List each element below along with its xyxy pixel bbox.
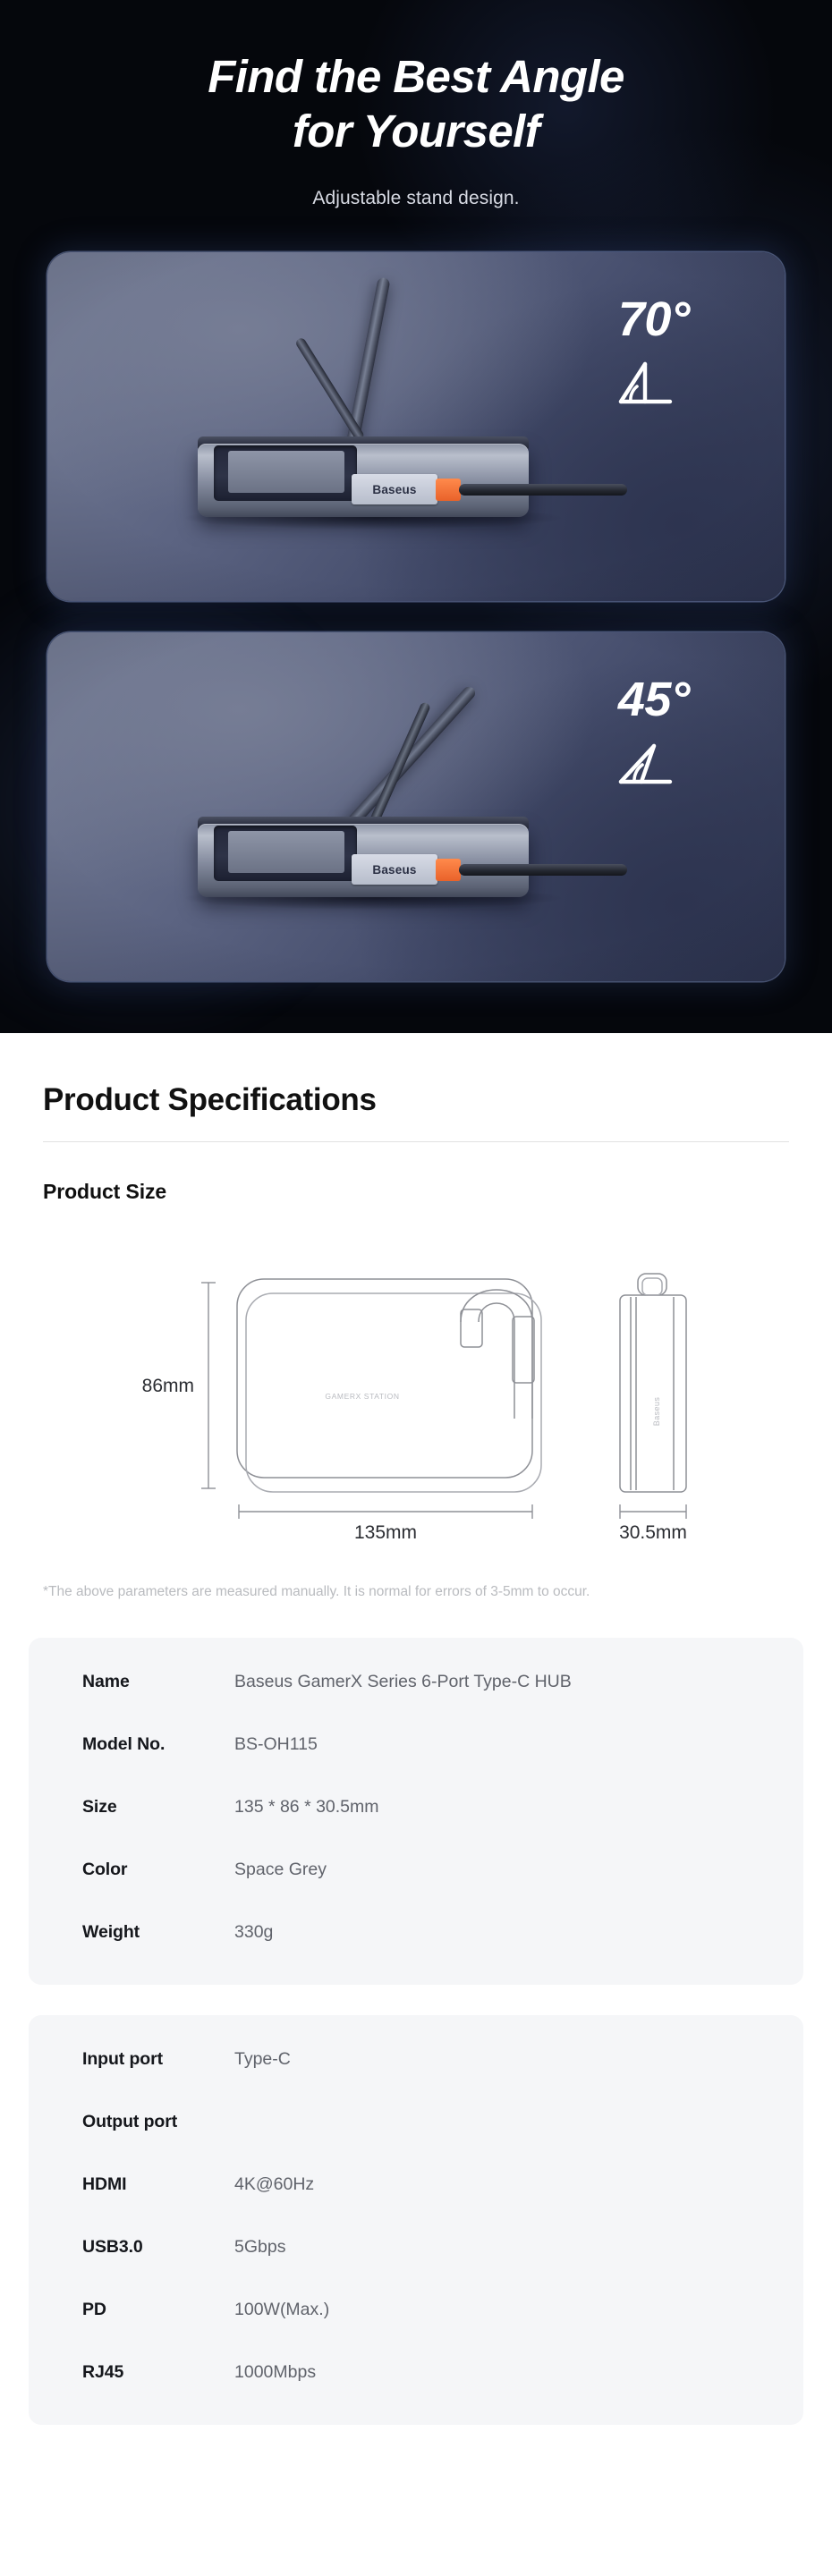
spec-value: 330g xyxy=(234,1919,619,1945)
angle-70-icon xyxy=(618,361,674,406)
spec-table-ports: Input port Type-C Output port HDMI 4K@60… xyxy=(29,2015,803,2425)
device-side-text: Baseus xyxy=(652,1397,661,1427)
table-row: Weight 330g xyxy=(29,1919,803,1954)
hub-cable xyxy=(459,484,627,496)
hub-brand-badge: Baseus xyxy=(352,854,437,885)
table-row: Model No. BS-OH115 xyxy=(29,1731,803,1767)
angle-label-70: 70° xyxy=(618,295,690,406)
spec-key: PD xyxy=(82,2296,234,2323)
hub-stand-kickstand xyxy=(368,701,431,828)
spec-value: BS-OH115 xyxy=(234,1731,619,1758)
spec-value: Space Grey xyxy=(234,1856,619,1883)
angle-showcase-card-45: Baseus 45° xyxy=(47,632,785,981)
specs-divider xyxy=(43,1141,789,1142)
spec-key: RJ45 xyxy=(82,2359,234,2385)
spec-value: 1000Mbps xyxy=(234,2359,619,2385)
angle-value-70: 70° xyxy=(618,295,690,343)
table-row: Name Baseus GamerX Series 6-Port Type-C … xyxy=(29,1668,803,1704)
spec-key: Name xyxy=(82,1668,234,1695)
spec-key: Color xyxy=(82,1856,234,1883)
hero-title-line-2: for Yourself xyxy=(76,104,756,158)
product-detail-page: Find the Best Angle for Yourself Adjusta… xyxy=(0,0,832,2479)
product-size-label: Product Size xyxy=(43,1180,789,1204)
angle-45-icon xyxy=(618,741,674,786)
product-size-diagram: 86mm 135mm 30.5mm GAMERX STATION Bas xyxy=(67,1224,765,1563)
hub-illustration-70: Baseus xyxy=(144,267,645,535)
hub-stand-panel xyxy=(343,684,478,832)
table-row: RJ45 1000Mbps xyxy=(29,2359,803,2394)
spec-value: 135 * 86 * 30.5mm xyxy=(234,1793,619,1820)
spec-value: Baseus GamerX Series 6-Port Type-C HUB xyxy=(234,1668,619,1695)
spec-value: Type-C xyxy=(234,2046,619,2072)
device-top-text: GAMERX STATION xyxy=(325,1392,399,1401)
table-row: PD 100W(Max.) xyxy=(29,2296,803,2332)
table-row: Input port Type-C xyxy=(29,2046,803,2081)
table-row: USB3.0 5Gbps xyxy=(29,2233,803,2269)
specs-heading: Product Specifications xyxy=(43,1082,832,1118)
hero-section: Find the Best Angle for Yourself Adjusta… xyxy=(0,0,832,1033)
spec-key: Size xyxy=(82,1793,234,1820)
hub-device-slot xyxy=(214,445,357,501)
spec-table-general: Name Baseus GamerX Series 6-Port Type-C … xyxy=(29,1638,803,1985)
hero-subtitle: Adjustable stand design. xyxy=(0,188,832,209)
dimension-height-label: 86mm xyxy=(142,1376,194,1396)
table-row: Color Space Grey xyxy=(29,1856,803,1892)
angle-label-45: 45° xyxy=(618,675,690,786)
hub-stand-kickstand xyxy=(294,337,365,443)
spec-key: Model No. xyxy=(82,1731,234,1758)
spec-key: USB3.0 xyxy=(82,2233,234,2260)
dimension-depth-label: 30.5mm xyxy=(619,1522,687,1543)
hero-title-line-1: Find the Best Angle xyxy=(208,51,624,102)
spec-key: Input port xyxy=(82,2046,234,2072)
table-row: HDMI 4K@60Hz xyxy=(29,2171,803,2207)
product-size-block: Product Size xyxy=(0,1180,832,1563)
angle-showcase-card-70: Baseus 70° xyxy=(47,252,785,601)
spec-value: 5Gbps xyxy=(234,2233,619,2260)
hub-device-slot xyxy=(214,826,357,881)
spec-value: 100W(Max.) xyxy=(234,2296,619,2323)
spec-key: Weight xyxy=(82,1919,234,1945)
measurement-note: *The above parameters are measured manua… xyxy=(43,1580,651,1606)
dimension-width-label: 135mm xyxy=(354,1522,417,1543)
specifications-section: Product Specifications Product Size xyxy=(0,1033,832,2479)
hero-title: Find the Best Angle for Yourself xyxy=(76,49,756,158)
usb-c-connector xyxy=(436,859,461,881)
spec-key: Output port xyxy=(82,2108,234,2135)
hub-brand-badge: Baseus xyxy=(352,474,437,504)
hub-illustration-45: Baseus xyxy=(144,647,645,915)
spec-value: 4K@60Hz xyxy=(234,2171,619,2198)
spec-key: HDMI xyxy=(82,2171,234,2198)
usb-c-connector xyxy=(436,479,461,501)
angle-value-45: 45° xyxy=(618,675,690,724)
hub-cable xyxy=(459,864,627,876)
table-row: Size 135 * 86 * 30.5mm xyxy=(29,1793,803,1829)
table-row: Output port xyxy=(29,2108,803,2144)
